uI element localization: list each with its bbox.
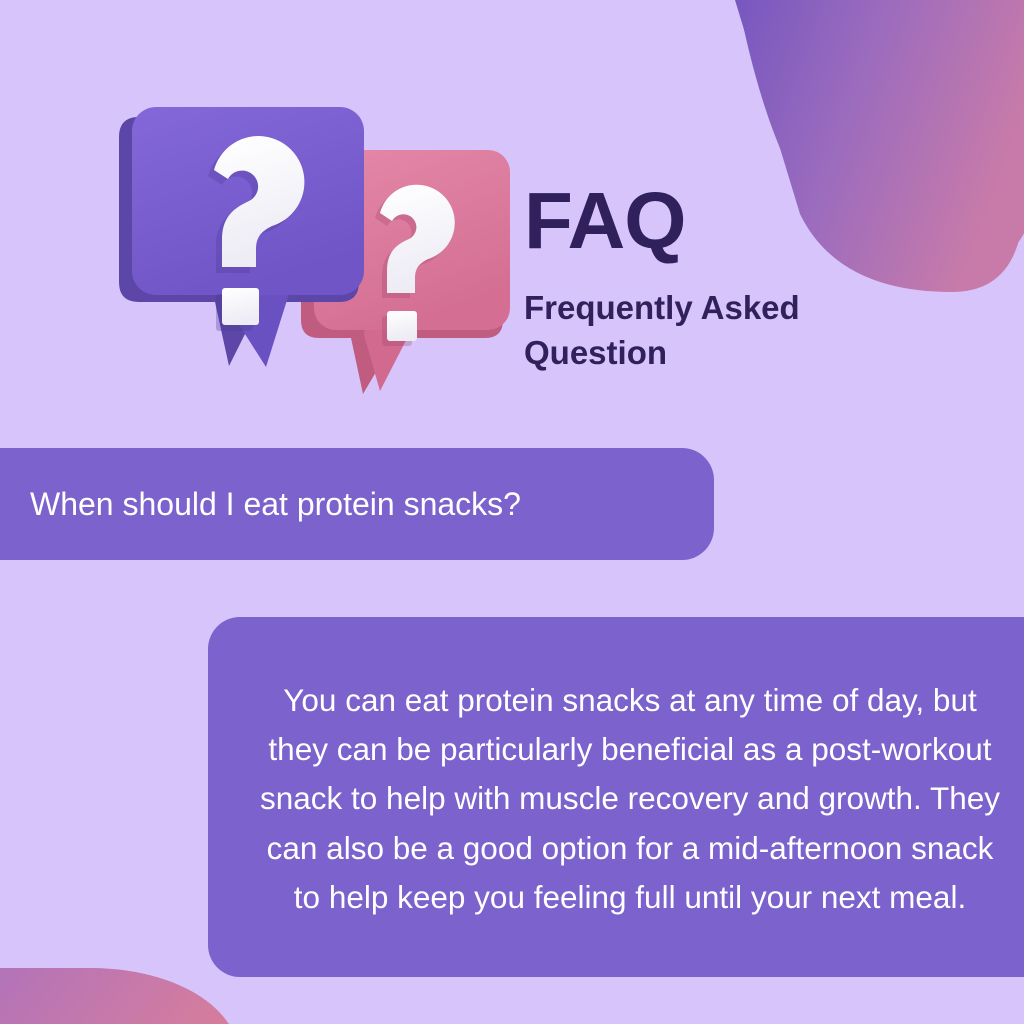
- faq-question-text: When should I eat protein snacks?: [30, 485, 521, 523]
- page-title: FAQ: [524, 183, 685, 259]
- faq-question-bar[interactable]: When should I eat protein snacks?: [0, 448, 714, 560]
- rounded-blob-bottom-left-body: [0, 968, 240, 1024]
- page-subtitle: Frequently Asked Question: [524, 286, 884, 375]
- page-subtitle-line-1: Frequently Asked: [524, 286, 884, 331]
- rounded-blob-bottom-left: [0, 972, 250, 1024]
- page-subtitle-line-2: Question: [524, 331, 884, 376]
- faq-answer-box: You can eat protein snacks at any time o…: [208, 617, 1024, 977]
- rounded-blob-top-right: [735, 0, 1024, 292]
- faq-answer-text: You can eat protein snacks at any time o…: [252, 676, 1008, 922]
- speech-bubbles-question-icon: [118, 95, 518, 400]
- faq-card: FAQ Frequently Asked Question When shoul…: [0, 0, 1024, 1024]
- rounded-blob-top-right-body: [736, 0, 1024, 280]
